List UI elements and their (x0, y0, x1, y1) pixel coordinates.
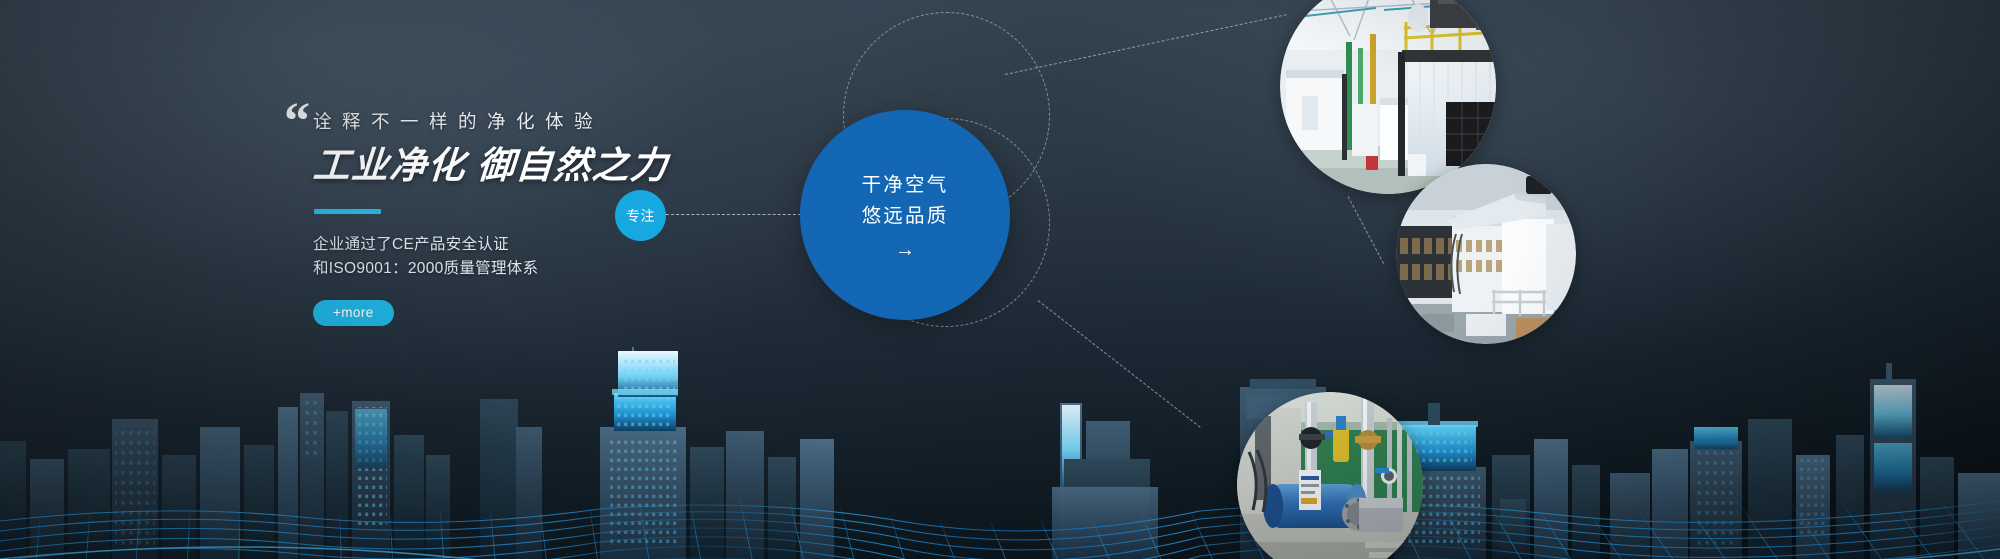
hero-headline: 工业净化 御自然之力 (312, 146, 875, 185)
factory-interior-photo[interactable] (1280, 0, 1496, 194)
hub-line-2: 悠远品质 (862, 201, 949, 231)
hub-circle[interactable]: 干净空气 悠远品质 → (800, 110, 1010, 320)
focus-connector-line (666, 214, 801, 216)
hub-line-1: 干净空气 (862, 170, 949, 200)
arrow-right-icon: → (895, 240, 915, 260)
hero-description: 企业通过了CE产品安全认证 和ISO9001：2000质量管理体系 (313, 233, 873, 280)
hero-description-line-1: 企业通过了CE产品安全认证 (313, 233, 873, 257)
link-to-photo-1 (1005, 14, 1287, 75)
more-button[interactable]: +more (313, 300, 394, 326)
hero-subtitle: 诠释不一样的净化体验 (313, 108, 873, 134)
accent-divider (314, 209, 381, 214)
hero-description-line-2: 和ISO9001：2000质量管理体系 (313, 257, 873, 281)
hero-banner: “ 诠释不一样的净化体验 工业净化 御自然之力 企业通过了CE产品安全认证 和I… (0, 0, 2000, 559)
hero-copy-block: “ 诠释不一样的净化体验 工业净化 御自然之力 企业通过了CE产品安全认证 和I… (313, 108, 873, 326)
focus-badge[interactable]: 专注 (615, 190, 666, 241)
industrial-machinery-photo[interactable] (1396, 164, 1576, 344)
link-to-photo-2 (1348, 196, 1385, 264)
quote-mark-icon: “ (284, 96, 308, 148)
